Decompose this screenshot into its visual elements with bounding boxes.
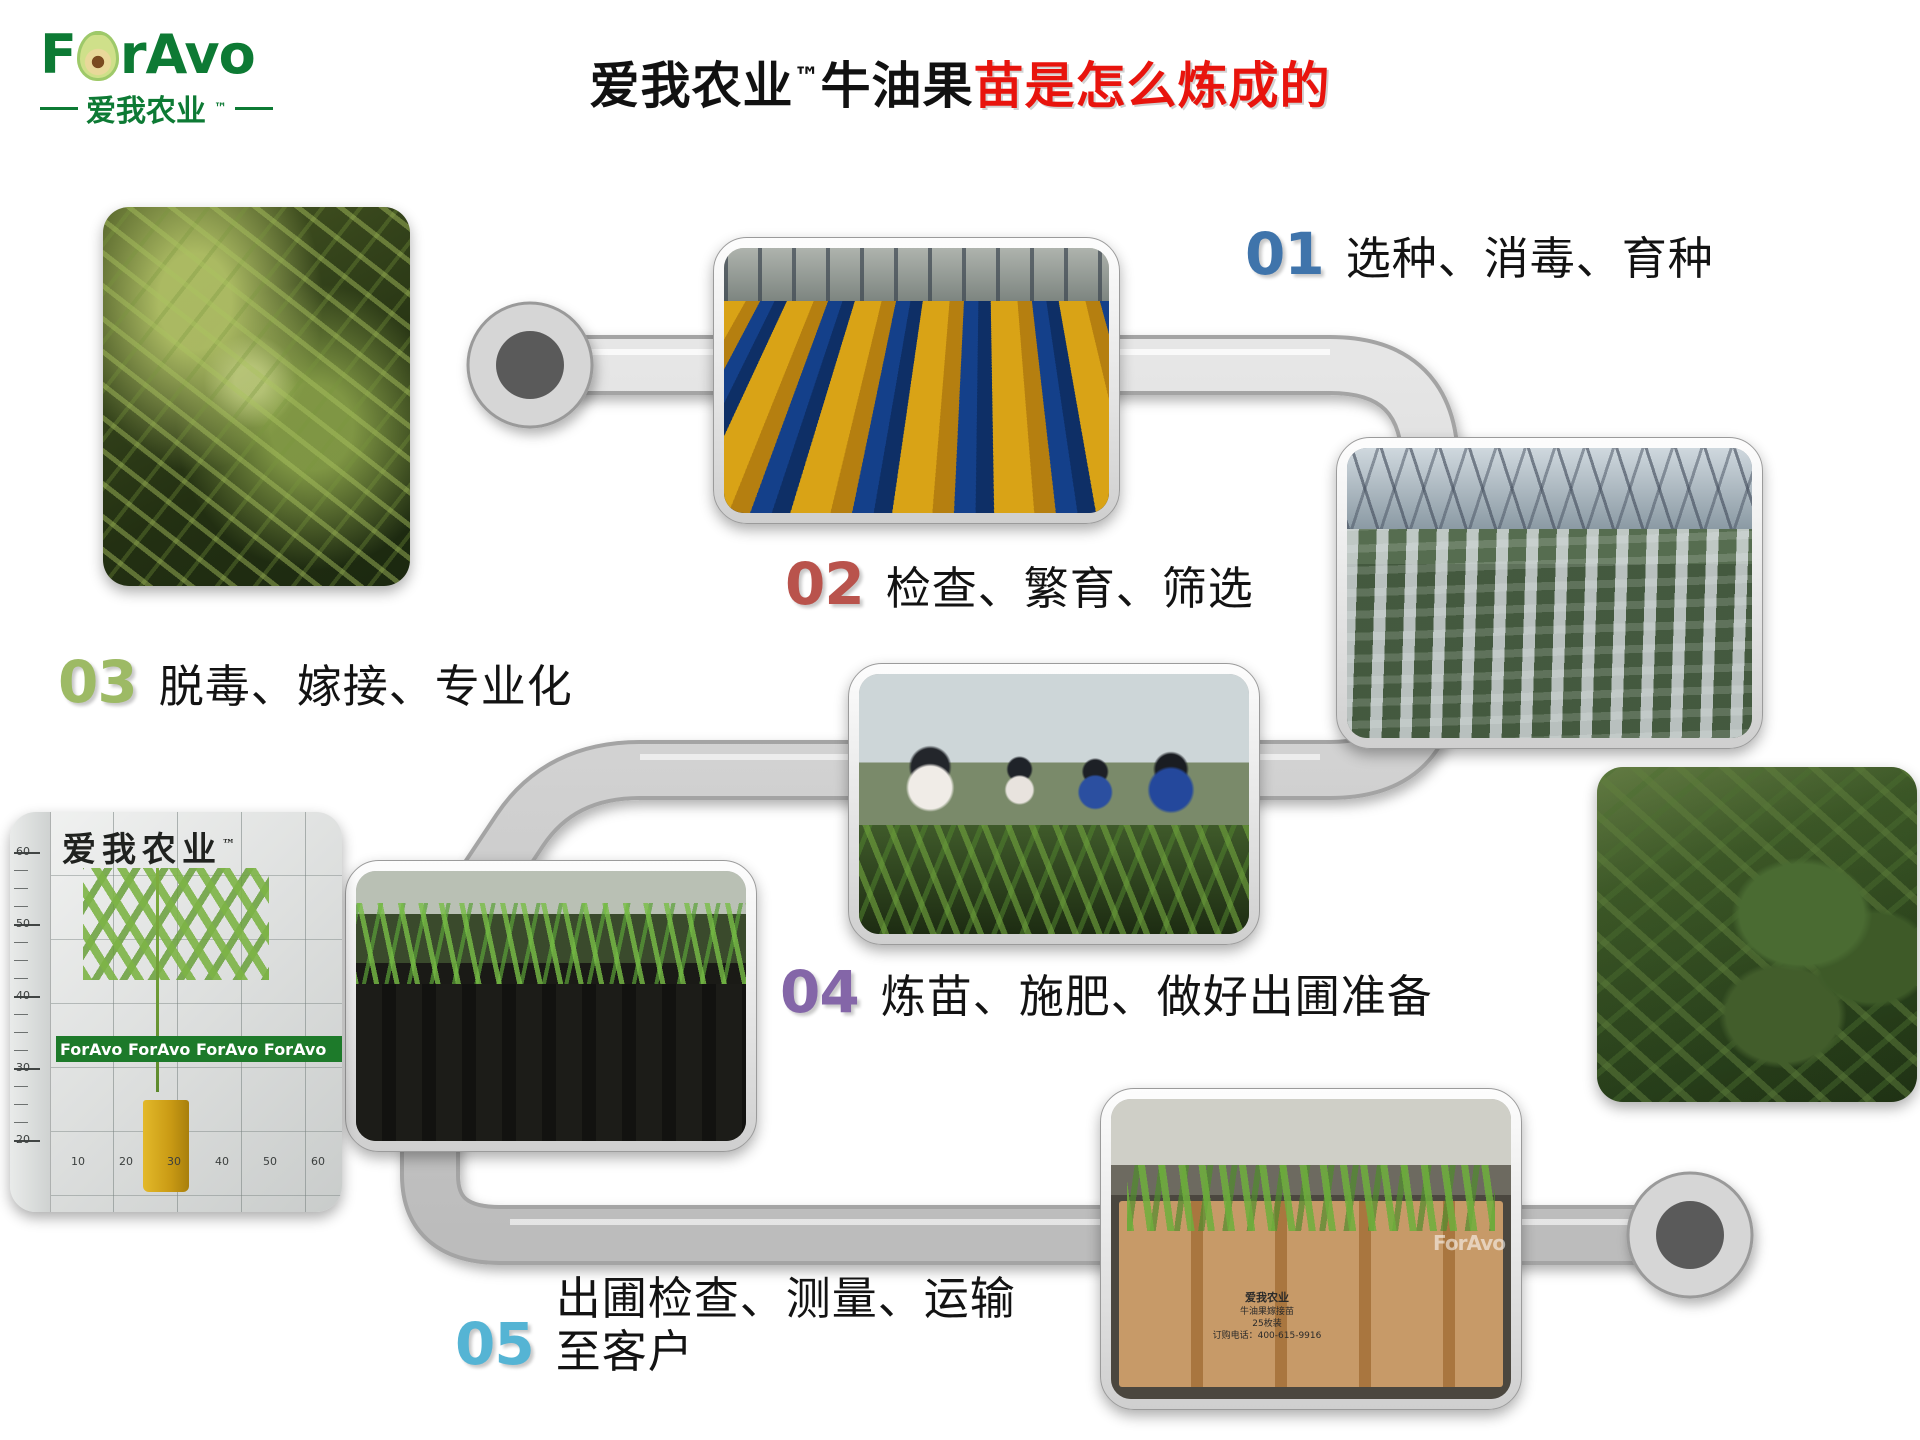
photo-packing-boxes: 爱我农业 牛油果嫁接苗 25枚装 订购电话：400-615-9916 ForAv… xyxy=(1100,1088,1522,1410)
photo-flowering-avocado-branch xyxy=(103,207,410,586)
ruler-bottom-scale: 10 20 30 40 50 60 xyxy=(54,1155,342,1168)
photo-image xyxy=(724,248,1109,513)
ruler-tick-40: 40 xyxy=(16,989,30,1002)
bottom-tick-40: 40 xyxy=(215,1155,229,1168)
photo-frame-inner: 爱我农业 牛油果嫁接苗 25枚装 订购电话：400-615-9916 ForAv… xyxy=(1111,1099,1511,1399)
bottom-tick-30: 30 xyxy=(167,1155,181,1168)
step-01-text: 选种、消毒、育种 xyxy=(1346,232,1714,285)
box-label-product: 牛油果嫁接苗 xyxy=(1207,1306,1327,1318)
step-02-number: 02 xyxy=(785,550,864,618)
step-02-label: 02 检查、繁育、筛选 xyxy=(785,550,1254,618)
ruler-brand-tm: ™ xyxy=(222,838,235,853)
photo-avocado-fruit-on-tree xyxy=(1597,767,1917,1102)
ruler-photo-brand: 爱我农业™ xyxy=(62,822,332,871)
photo-grafted-nursery xyxy=(1336,437,1763,749)
ruler-brand-text: 爱我农业 xyxy=(62,830,222,870)
ruler-tick-20: 20 xyxy=(16,1133,30,1146)
poster-canvas: FrAvo 爱我农业 ™ 爱我农业™牛油果苗是怎么炼成的 xyxy=(0,0,1920,1440)
photo-image xyxy=(103,207,410,586)
photo-image: 海南爱我农业科技有限公司 xyxy=(859,674,1249,934)
step-03-label: 03 脱毒、嫁接、专业化 xyxy=(58,648,573,716)
box-printed-label: 爱我农业 牛油果嫁接苗 25枚装 订购电话：400-615-9916 xyxy=(1207,1291,1327,1342)
step-03-number: 03 xyxy=(58,648,137,716)
photo-frame-inner: 海南爱我农业科技有限公司 xyxy=(859,674,1249,934)
photo-people-inspecting: 海南爱我农业科技有限公司 xyxy=(848,663,1260,945)
seedling-pot xyxy=(143,1100,189,1192)
title-part-highlight: 苗是怎么炼成的 xyxy=(974,57,1331,115)
photo-watermark: 海南爱我农业科技有限公司 xyxy=(859,914,1249,930)
ruler-scale: 60 50 40 30 20 xyxy=(10,812,51,1212)
photo-image: 60 50 40 30 20 爱我农业™ ForAvo ForAvo ForAv… xyxy=(10,812,342,1212)
page-title: 爱我农业™牛油果苗是怎么炼成的 xyxy=(0,46,1920,118)
bottom-tick-20: 20 xyxy=(119,1155,133,1168)
box-label-brand: 爱我农业 xyxy=(1207,1291,1327,1306)
bottom-tick-50: 50 xyxy=(263,1155,277,1168)
photo-frame-inner xyxy=(724,248,1109,513)
step-05-label: 05 出圃检查、测量、运输 至客户 xyxy=(455,1272,1016,1378)
photo-image xyxy=(1597,767,1917,1102)
ruler-tick-50: 50 xyxy=(16,917,30,930)
seedling-leaves xyxy=(83,868,269,980)
step-03-text: 脱毒、嫁接、专业化 xyxy=(159,660,573,713)
box-label-count: 25枚装 xyxy=(1207,1318,1327,1330)
box-watermark: ForAvo xyxy=(1433,1231,1505,1255)
photo-image xyxy=(356,871,746,1141)
box-label-phone: 订购电话：400-615-9916 xyxy=(1207,1330,1327,1342)
flow-end-node xyxy=(1628,1173,1752,1297)
photo-frame-inner xyxy=(1347,448,1752,738)
ruler-tick-60: 60 xyxy=(16,845,30,858)
foravo-repeat-band: ForAvo ForAvo ForAvo ForAvo xyxy=(56,1036,342,1062)
photo-image: 爱我农业 牛油果嫁接苗 25枚装 订购电话：400-615-9916 ForAv… xyxy=(1111,1099,1511,1399)
foravo-band-text: ForAvo ForAvo ForAvo ForAvo xyxy=(60,1040,326,1059)
bottom-tick-10: 10 xyxy=(71,1155,85,1168)
photo-potted-seedlings xyxy=(345,860,757,1152)
step-04-label: 04 炼苗、施肥、做好出圃准备 xyxy=(780,958,1433,1026)
title-part-product: 牛油果 xyxy=(821,57,974,115)
photo-frame-inner xyxy=(356,871,746,1141)
step-04-text: 炼苗、施肥、做好出圃准备 xyxy=(881,970,1433,1023)
photo-image xyxy=(1347,448,1752,738)
step-05-number: 05 xyxy=(455,1310,534,1378)
photo-seed-trays-greenhouse xyxy=(713,237,1120,524)
title-part-brand: 爱我农业 xyxy=(590,57,794,115)
photo-seedling-ruler-measurement: 60 50 40 30 20 爱我农业™ ForAvo ForAvo ForAv… xyxy=(10,812,342,1212)
step-01-number: 01 xyxy=(1245,220,1324,288)
step-02-text: 检查、繁育、筛选 xyxy=(886,562,1254,615)
step-01-label: 01 选种、消毒、育种 xyxy=(1245,220,1714,288)
step-04-number: 04 xyxy=(780,958,859,1026)
title-trademark-symbol: ™ xyxy=(794,62,821,92)
ruler-tick-30: 30 xyxy=(16,1061,30,1074)
flow-start-node xyxy=(468,303,592,427)
bottom-tick-60: 60 xyxy=(311,1155,325,1168)
step-05-text: 出圃检查、测量、运输 至客户 xyxy=(556,1272,1016,1378)
